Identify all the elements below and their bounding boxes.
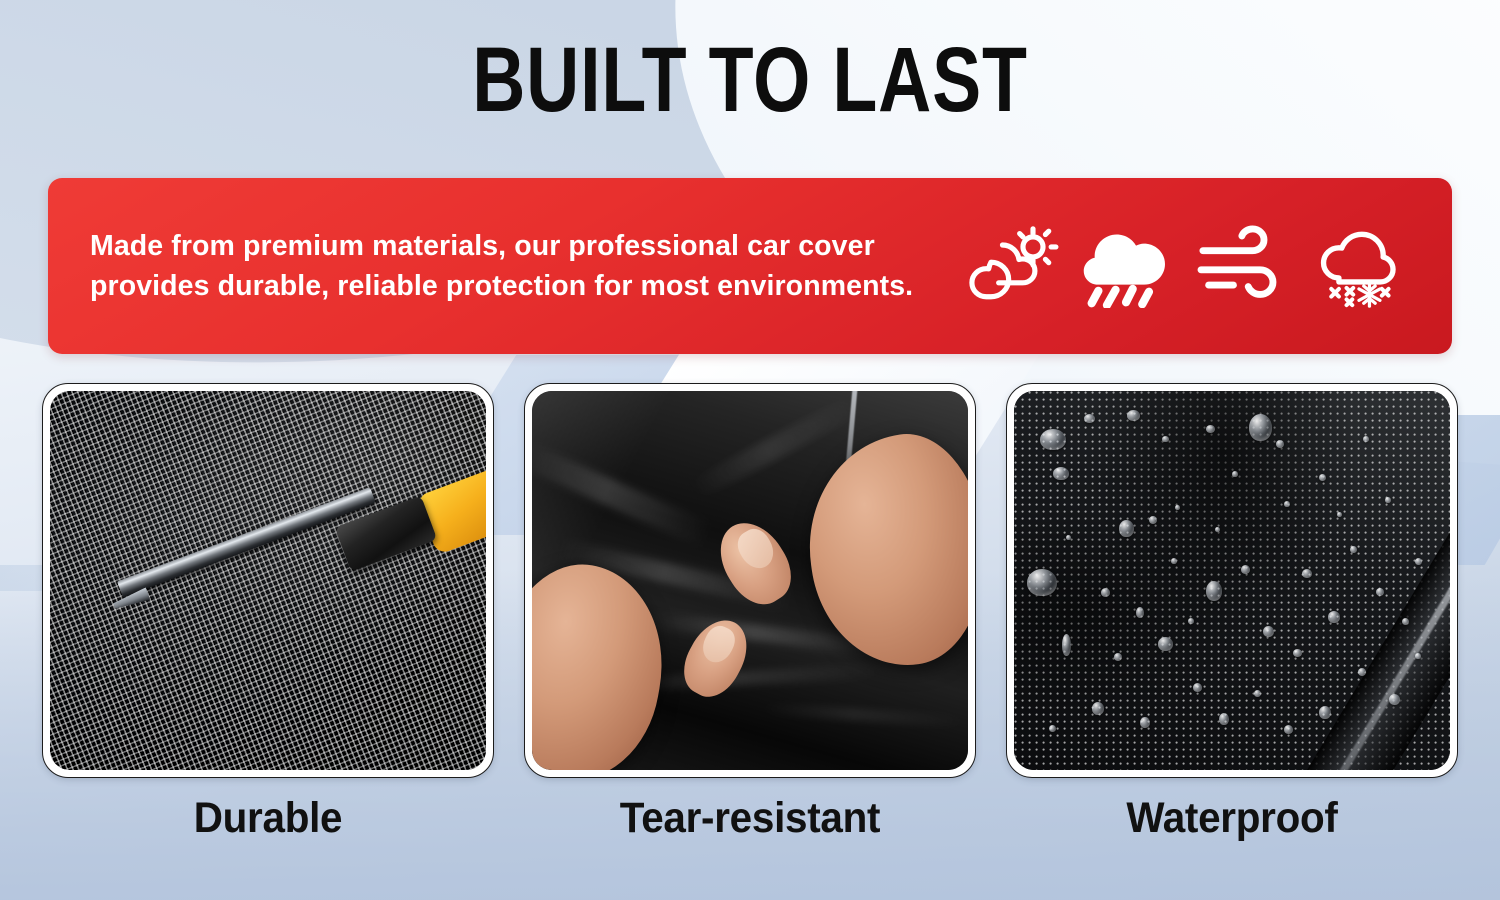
water-droplet (1193, 683, 1202, 692)
water-droplet (1092, 702, 1104, 715)
card-frame (42, 383, 494, 778)
water-beading-fabric-photo (1014, 391, 1450, 770)
water-droplet (1158, 637, 1173, 651)
water-droplet (1376, 588, 1384, 596)
water-droplet (1319, 706, 1331, 719)
water-droplet (1302, 569, 1312, 578)
water-droplet (1127, 410, 1140, 421)
water-droplet (1049, 725, 1056, 732)
fabric-highlight (50, 391, 486, 770)
water-droplet (1249, 414, 1272, 441)
water-droplet (1062, 634, 1071, 656)
water-droplet (1219, 713, 1229, 725)
water-droplet (1101, 588, 1110, 597)
woven-fabric-screwdriver-photo (50, 391, 486, 770)
water-droplet (1175, 505, 1180, 510)
water-droplet (1293, 649, 1302, 657)
water-droplet (1149, 516, 1157, 524)
water-droplet (1276, 440, 1284, 448)
water-droplet (1040, 429, 1066, 450)
feature-card-durable: Durable (42, 383, 494, 843)
card-frame (524, 383, 976, 778)
water-droplet (1171, 558, 1177, 564)
water-droplet (1241, 565, 1250, 574)
water-droplet (1263, 626, 1274, 637)
water-droplet (1284, 725, 1293, 734)
water-droplet (1206, 581, 1222, 601)
card-frame (1006, 383, 1458, 778)
wind-icon (1195, 224, 1291, 308)
description-banner: Made from premium materials, our profess… (48, 178, 1452, 354)
water-droplet (1415, 653, 1421, 659)
water-droplet (1232, 471, 1238, 477)
water-droplet (1136, 607, 1144, 618)
feature-label-waterproof: Waterproof (1020, 794, 1445, 843)
feature-card-row: Durable (42, 383, 1458, 843)
infographic-page: BUILT TO LAST Made from premium material… (0, 0, 1500, 900)
water-droplet (1415, 558, 1422, 565)
water-droplet (1215, 527, 1220, 532)
water-droplet (1206, 425, 1215, 433)
sun-behind-cloud-icon (964, 224, 1060, 308)
water-droplet (1114, 653, 1122, 661)
feature-card-tear-resistant: Tear-resistant (524, 383, 976, 843)
banner-description-text: Made from premium materials, our profess… (48, 226, 948, 307)
water-droplet (1389, 694, 1400, 705)
water-droplet (1053, 467, 1069, 480)
water-droplet (1027, 569, 1057, 596)
water-droplet (1385, 497, 1391, 503)
water-droplet (1119, 520, 1134, 537)
hands-stretching-fabric-photo (532, 391, 968, 770)
snow-cloud-icon (1310, 224, 1406, 308)
weather-icon-group (948, 224, 1452, 308)
feature-label-tear-resistant: Tear-resistant (538, 794, 963, 843)
rain-cloud-icon (1079, 224, 1175, 308)
page-title: BUILT TO LAST (150, 34, 1350, 126)
feature-card-waterproof: Waterproof (1006, 383, 1458, 843)
water-droplet (1337, 512, 1342, 517)
water-droplet (1328, 611, 1340, 623)
water-droplet (1350, 546, 1357, 553)
water-droplet (1084, 414, 1095, 423)
feature-label-durable: Durable (56, 794, 481, 843)
water-droplet (1358, 668, 1366, 676)
